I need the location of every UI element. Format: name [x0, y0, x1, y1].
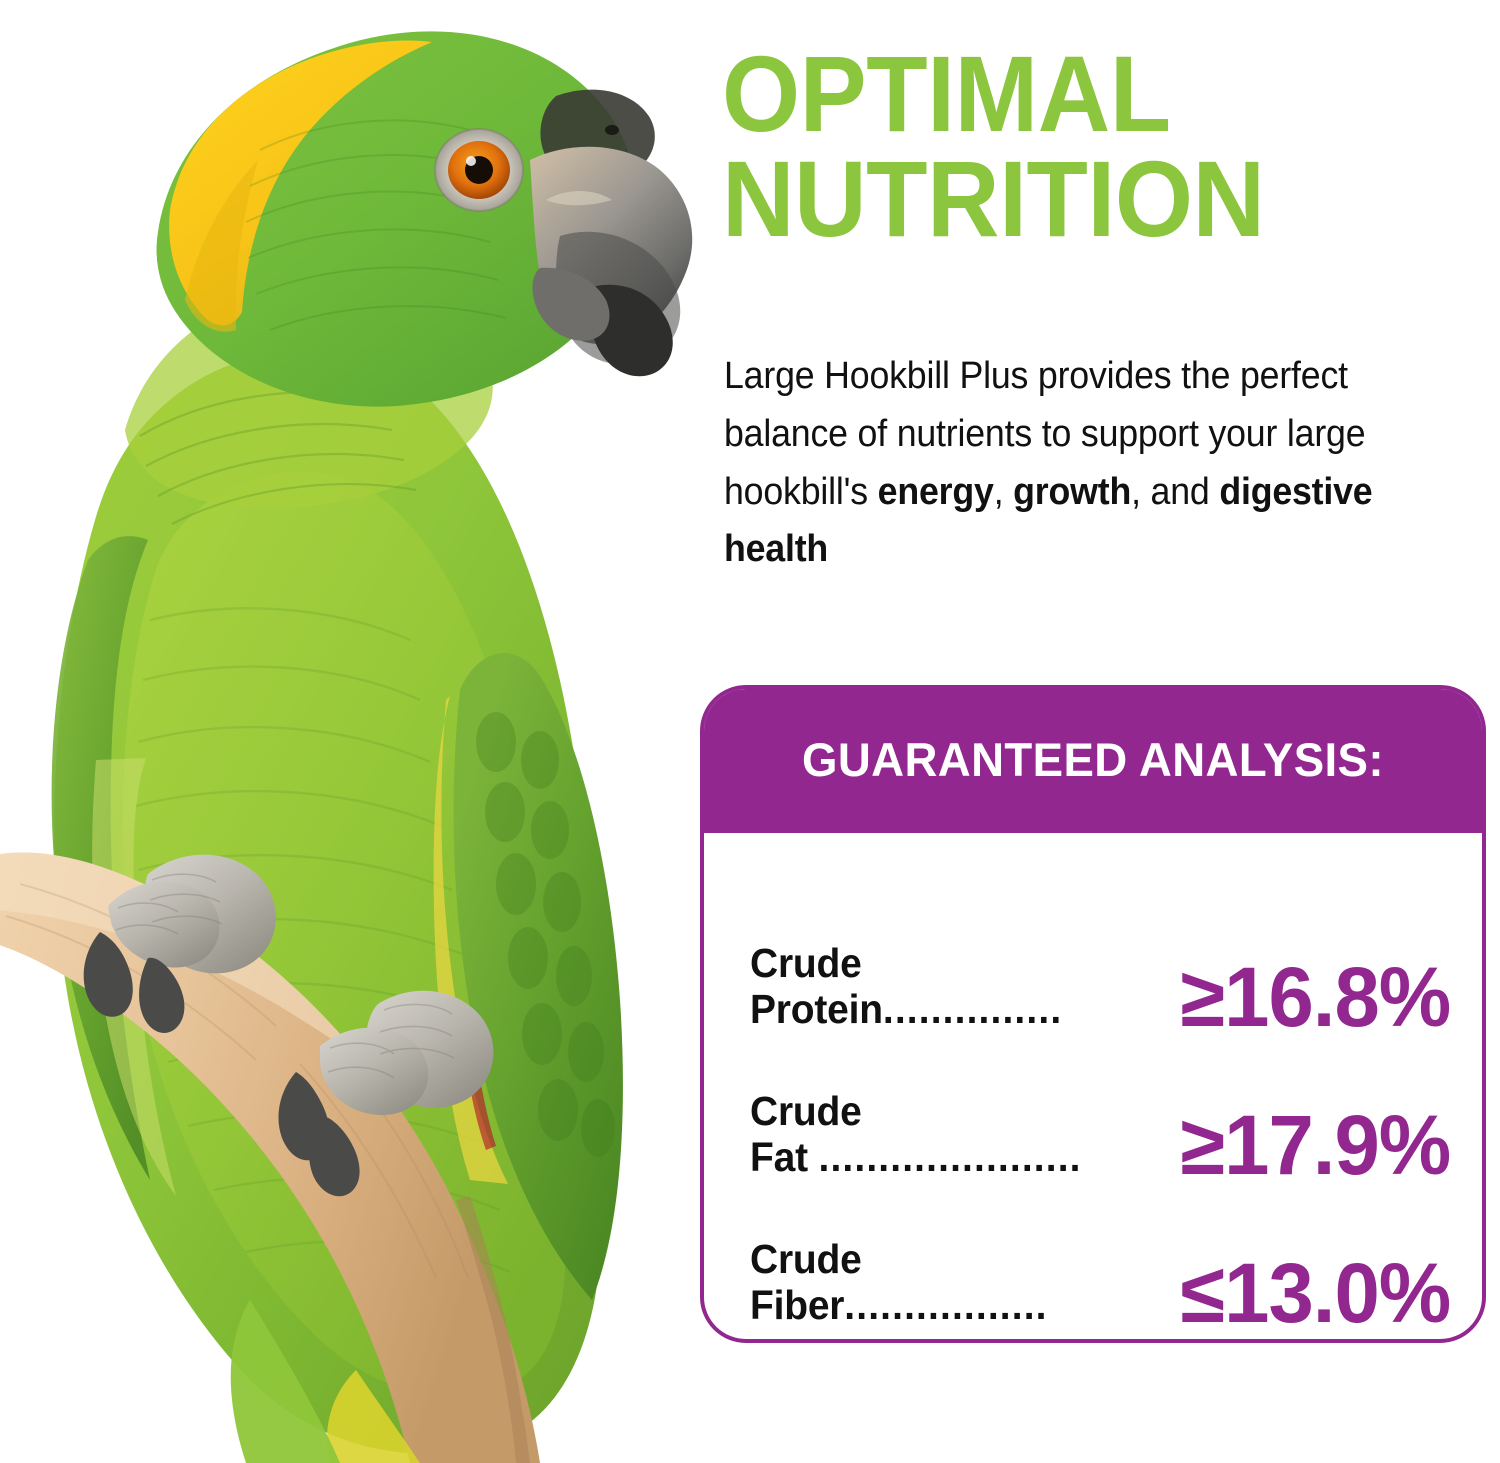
analysis-row-label: Crude Protein...............	[750, 941, 1079, 1033]
guaranteed-analysis-header: GUARANTEED ANALYSIS:	[700, 685, 1486, 833]
headline-line-1: OPTIMAL	[722, 42, 1429, 147]
body-copy-seg-4: , and	[1131, 471, 1219, 513]
parrot-illustration	[0, 0, 700, 1463]
page-title: OPTIMAL NUTRITION	[722, 42, 1429, 252]
analysis-label-bottom: Fat ......................	[750, 1135, 1082, 1181]
analysis-leader-dots: .................	[844, 1282, 1047, 1328]
body-copy-seg-1: energy	[878, 471, 994, 513]
analysis-label-text: Protein	[750, 986, 883, 1032]
analysis-row-list: Crude Protein............... ≥16.8% Crud…	[704, 837, 1486, 1339]
guaranteed-analysis-panel: GUARANTEED ANALYSIS: Crude Protein......…	[700, 685, 1486, 1343]
content-column: OPTIMAL NUTRITION Large Hookbill Plus pr…	[700, 0, 1500, 1463]
analysis-leader-dots: ......................	[818, 1134, 1081, 1180]
analysis-row-crude-protein: Crude Protein............... ≥16.8%	[750, 885, 1456, 1033]
analysis-label-bottom: Fiber.................	[750, 1283, 1048, 1329]
body-copy-seg-2: ,	[994, 471, 1013, 513]
analysis-row-label: Crude Fiber.................	[750, 1237, 1063, 1329]
analysis-value: ≤13.0%	[1180, 1251, 1450, 1335]
analysis-label-bottom: Protein...............	[750, 987, 1062, 1033]
analysis-label-text: Fat	[750, 1134, 818, 1180]
body-copy: Large Hookbill Plus provides the perfect…	[724, 348, 1420, 579]
analysis-leader-dots: ...............	[883, 986, 1062, 1032]
analysis-row-label: Crude Fat ......................	[750, 1089, 1099, 1181]
analysis-label-top: Crude	[750, 1237, 1048, 1283]
body-copy-seg-3: growth	[1013, 471, 1131, 513]
parrot-photo	[0, 0, 700, 1463]
parrot-eye	[435, 129, 523, 211]
analysis-label-top: Crude	[750, 941, 1062, 987]
analysis-label-text: Fiber	[750, 1282, 844, 1328]
analysis-label-top: Crude	[750, 1089, 1082, 1135]
analysis-value: ≥16.8%	[1180, 955, 1450, 1039]
product-infographic: OPTIMAL NUTRITION Large Hookbill Plus pr…	[0, 0, 1500, 1463]
guaranteed-analysis-title: GUARANTEED ANALYSIS:	[802, 732, 1384, 787]
analysis-value: ≥17.9%	[1180, 1103, 1450, 1187]
nostril	[605, 125, 619, 135]
analysis-row-crude-fiber: Crude Fiber................. ≤13.0%	[750, 1181, 1456, 1329]
analysis-row-crude-fat: Crude Fat ...................... ≥17.9%	[750, 1033, 1456, 1181]
headline-line-2: NUTRITION	[722, 147, 1429, 252]
